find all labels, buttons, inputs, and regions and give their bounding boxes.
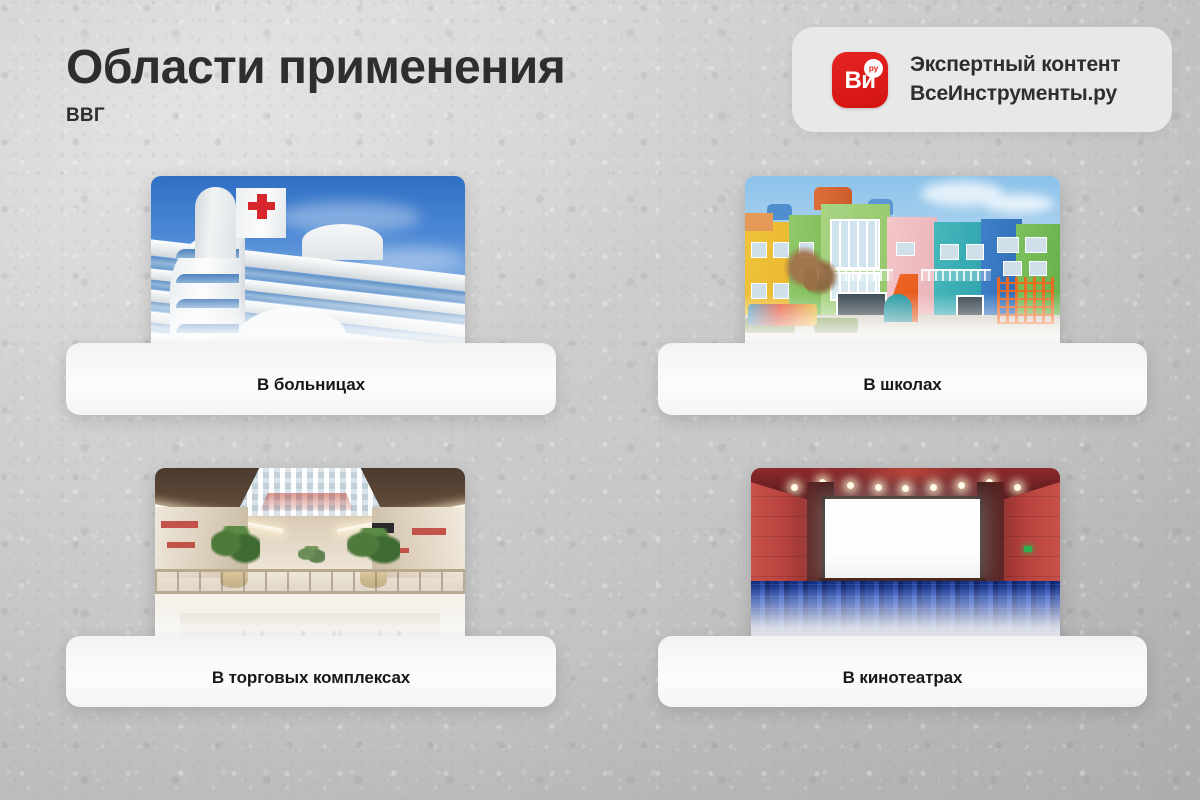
page-subtitle: ВВГ (66, 105, 565, 127)
card-label-hospital: В больницах (257, 375, 365, 395)
mall-photo (155, 468, 465, 645)
cinema-screen (822, 496, 983, 581)
cinema-photo (751, 468, 1060, 645)
school-label-plate: В школах (658, 343, 1147, 415)
school-photo (745, 176, 1060, 354)
card-label-mall: В торговых комплексах (212, 668, 410, 688)
slide-root: Области применения ВВГ Ви ру Экспертный … (0, 0, 1200, 800)
brand-name: ВсеИнструменты.ру (910, 81, 1121, 107)
hospital-photo-art (151, 176, 465, 354)
logo-ru-badge: ру (864, 59, 883, 78)
brand-tagline: Экспертный контент (910, 52, 1121, 78)
hospital-photo (151, 176, 465, 354)
exit-sign-icon (1024, 546, 1032, 552)
mall-photo-art (155, 468, 465, 645)
card-label-cinema: В кинотеатрах (843, 668, 963, 688)
brand-badge[interactable]: Ви ру Экспертный контент ВсеИнструменты.… (792, 27, 1172, 132)
header: Области применения ВВГ (66, 44, 565, 127)
vseinstrumenty-logo-icon: Ви ру (832, 52, 888, 108)
mall-label-plate: В торговых комплексах (66, 636, 556, 707)
cinema-label-plate: В кинотеатрах (658, 636, 1147, 707)
brand-text-block: Экспертный контент ВсеИнструменты.ру (910, 52, 1121, 106)
card-label-school: В школах (863, 375, 941, 395)
hospital-label-plate: В больницах (66, 343, 556, 415)
cinema-photo-art (751, 468, 1060, 645)
page-title: Области применения (66, 44, 565, 93)
school-photo-art (745, 176, 1060, 354)
